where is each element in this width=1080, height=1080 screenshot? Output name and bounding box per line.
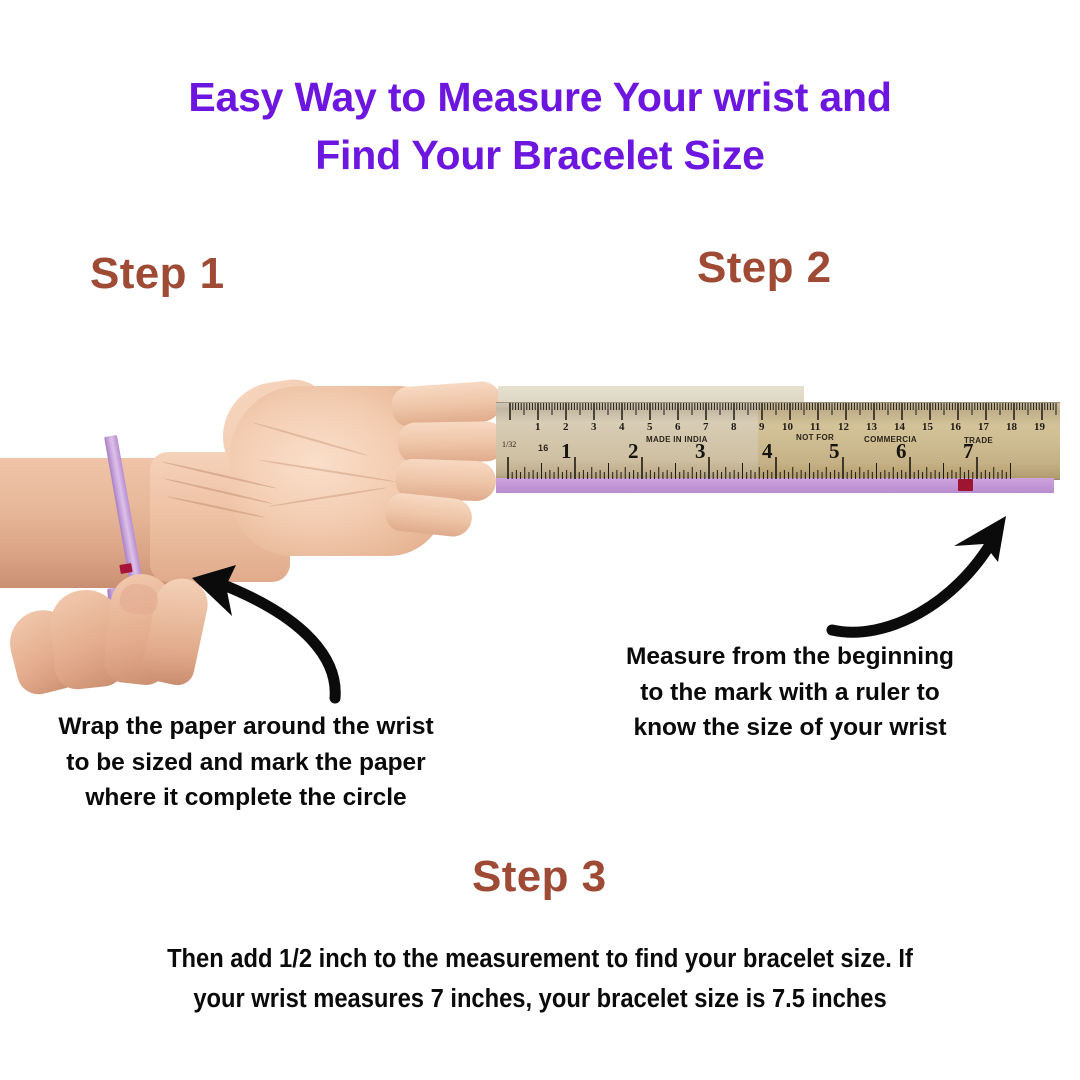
ruler-inch-number: 2 [628, 439, 639, 464]
step-2-caption-line-2: to the mark with a ruler to [560, 675, 1020, 711]
infographic-canvas: Easy Way to Measure Your wrist and Find … [0, 0, 1080, 1080]
ruler-metric-number: 8 [731, 421, 737, 433]
step-2-caption-line-1: Measure from the beginning [560, 639, 1020, 675]
curved-arrow-step-2 [826, 508, 1026, 648]
ruler-text-commercia: COMMERCIA [864, 435, 917, 444]
title-line-1: Easy Way to Measure Your wrist and [0, 68, 1080, 126]
purple-strip-red-mark [958, 479, 973, 491]
step-1-caption-line-1: Wrap the paper around the wrist [0, 709, 492, 745]
ruler-metric-number: 14 [894, 421, 905, 433]
ruler-body: 12345678910111213141516171819 1234567 1/… [496, 402, 1060, 480]
ruler-text-not-for: NOT FOR [796, 433, 834, 442]
ruler-metric-number: 9 [759, 421, 765, 433]
step-3-caption-line-1: Then add 1/2 inch to the measurement to … [103, 940, 977, 980]
ruler-inch-number: 1 [561, 439, 572, 464]
page-title: Easy Way to Measure Your wrist and Find … [0, 68, 1080, 184]
ruler-metric-number: 1 [535, 421, 541, 433]
ruler-metric-number: 11 [810, 421, 820, 433]
ruler-metric-number: 15 [922, 421, 933, 433]
photo-ruler: 12345678910111213141516171819 1234567 1/… [496, 386, 1060, 496]
ruler-metric-number: 19 [1034, 421, 1045, 433]
step-2-caption: Measure from the beginning to the mark w… [560, 639, 1020, 746]
ruler-inch-number: 4 [762, 439, 773, 464]
step-3-caption-line-2: your wrist measures 7 inches, your brace… [103, 980, 977, 1020]
step-1-caption-line-3: where it complete the circle [0, 780, 492, 816]
step-3-caption: Then add 1/2 inch to the measurement to … [103, 940, 977, 1019]
ruler-metric-number: 7 [703, 421, 709, 433]
ruler-metric-number: 16 [950, 421, 961, 433]
step-3-heading: Step 3 [472, 852, 606, 902]
ruler-metric-number: 12 [838, 421, 849, 433]
ruler-text-trade: TRADE [964, 436, 993, 445]
title-line-2: Find Your Bracelet Size [0, 126, 1080, 184]
ruler-metric-number: 3 [591, 421, 597, 433]
ruler-fraction-label: 1/32 [502, 441, 516, 449]
step-1-heading: Step 1 [90, 249, 224, 299]
ruler-metric-number: 10 [782, 421, 793, 433]
step-2-heading: Step 2 [697, 243, 831, 293]
ruler-metric-number: 2 [563, 421, 569, 433]
ruler-metric-number: 5 [647, 421, 653, 433]
ruler-metric-number: 6 [675, 421, 681, 433]
ruler-metric-number: 18 [1006, 421, 1017, 433]
ruler-text-made-in-india: MADE IN INDIA [646, 435, 708, 444]
fraction-denominator: 32 [508, 440, 516, 449]
step-2-caption-line-3: know the size of your wrist [560, 710, 1020, 746]
finger-middle [398, 421, 507, 463]
ruler-sixteenth-label: 16 [538, 443, 549, 453]
step-1-caption-line-2: to be sized and mark the paper [0, 745, 492, 781]
ruler-metric-number: 17 [978, 421, 989, 433]
ruler-metric-number: 4 [619, 421, 625, 433]
ruler-metric-number: 13 [866, 421, 877, 433]
ruler-inch-number: 5 [829, 439, 840, 464]
step-1-caption: Wrap the paper around the wrist to be si… [0, 709, 492, 816]
